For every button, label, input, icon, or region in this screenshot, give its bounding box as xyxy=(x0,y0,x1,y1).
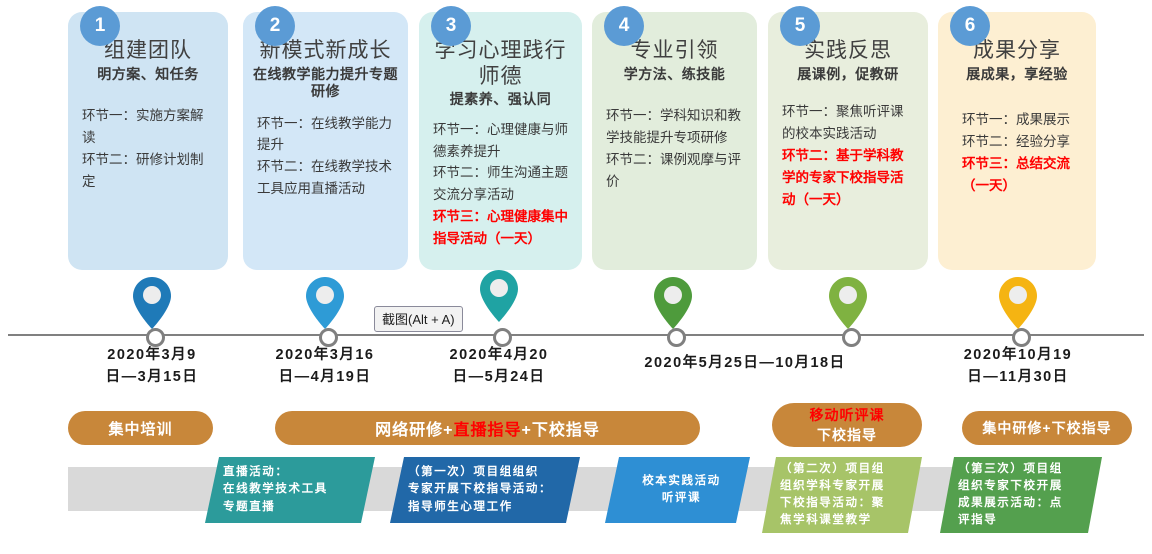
date-line: 日—4月19日 xyxy=(235,366,415,388)
stage-step: 环节一：心理健康与师德素养提升 xyxy=(433,119,568,163)
stage-number-badge-2: 2 xyxy=(255,6,295,46)
stage-subtitle-3: 提素养、强认同 xyxy=(429,91,572,109)
activity-box-3[interactable]: 校本实践活动 听评课 xyxy=(605,457,750,523)
stage-number-badge-3: 3 xyxy=(431,6,471,46)
map-pin-icon-1 xyxy=(130,275,174,331)
activity-box-2[interactable]: （第一次）项目组组织 专家开展下校指导活动： 指导师生心理工作 xyxy=(390,457,580,523)
timeline-node xyxy=(842,328,861,347)
stage-subtitle-4: 学方法、练技能 xyxy=(602,66,747,84)
date-line: 2020年3月9 xyxy=(62,344,242,366)
activity-line: 校本实践活动 xyxy=(642,473,721,490)
stage-card-row: 1 组建团队 明方案、知任务 环节一：实施方案解读 环节二：研修计划制定 2 新… xyxy=(0,0,1152,272)
roadmap-diagram: 1 组建团队 明方案、知任务 环节一：实施方案解读 环节二：研修计划制定 2 新… xyxy=(0,0,1152,554)
stage-card-6[interactable]: 6 成果分享 展成果，享经验 环节一：成果展示 环节二：经验分享 环节三：总结交… xyxy=(938,12,1096,270)
stage-card-5[interactable]: 5 实践反思 展课例，促教研 环节一：聚焦听评课的校本实践活动 环节二：基于学科… xyxy=(768,12,928,270)
stage-steps-4: 环节一：学科知识和教学技能提升专项研修 环节二：课例观摩与评价 xyxy=(602,105,747,192)
map-pin-icon-3 xyxy=(477,268,521,324)
activity-line: （第二次）项目组 xyxy=(780,461,885,478)
stage-step: 环节一：聚焦听评课的校本实践活动 xyxy=(782,101,914,145)
stage-card-4[interactable]: 4 专业引领 学方法、练技能 环节一：学科知识和教学技能提升专项研修 环节二：课… xyxy=(592,12,757,270)
stage-steps-3: 环节一：心理健康与师德素养提升 环节二：师生沟通主题交流分享活动 环节三：心理健… xyxy=(429,119,572,250)
activity-line: 评指导 xyxy=(958,512,1063,529)
map-pin-icon-2 xyxy=(303,275,347,331)
activity-line: 指导师生心理工作 xyxy=(408,499,552,516)
stage-card-2[interactable]: 2 新模式新成长 在线教学能力提升专题研修 环节一：在线教学能力提升 环节二：在… xyxy=(243,12,408,270)
stage-step-highlight: 环节三：总结交流（一天） xyxy=(962,153,1082,197)
activity-line: 成果展示活动：点 xyxy=(958,495,1063,512)
date-line: 2020年4月20 xyxy=(409,344,589,366)
stage-steps-6: 环节一：成果展示 环节二：经验分享 环节三：总结交流（一天） xyxy=(948,109,1086,196)
activity-box-text: 校本实践活动 听评课 xyxy=(642,473,721,508)
timeline-date-label-5: 2020年10月19 日—11月30日 xyxy=(928,344,1108,389)
phase-banner-1[interactable]: 集中培训 xyxy=(68,411,213,445)
timeline-date-label-4: 2020年5月25日—10月18日 xyxy=(600,352,890,374)
phase-banner-label: 集中培训 xyxy=(108,418,172,439)
stage-step: 环节二：在线教学技术工具应用直播活动 xyxy=(257,156,394,200)
stage-step: 环节二：研修计划制定 xyxy=(82,149,214,193)
activity-line: （第三次）项目组 xyxy=(958,461,1063,478)
timeline-date-label-1: 2020年3月9 日—3月15日 xyxy=(62,344,242,389)
stage-step: 环节一：实施方案解读 xyxy=(82,105,214,149)
map-pin-icon-4 xyxy=(651,275,695,331)
stage-subtitle-5: 展课例，促教研 xyxy=(778,66,918,84)
activity-line: 组织学科专家开展 xyxy=(780,478,885,495)
date-line: 2020年3月16 xyxy=(235,344,415,366)
phase-banner-label-highlight: 移动听评课 xyxy=(810,405,885,425)
timeline-axis xyxy=(8,334,1144,336)
stage-subtitle-6: 展成果，享经验 xyxy=(948,66,1086,84)
stage-number-badge-5: 5 xyxy=(780,6,820,46)
date-line: 2020年5月25日—10月18日 xyxy=(600,352,890,374)
stage-number-badge-6: 6 xyxy=(950,6,990,46)
stage-number-badge-1: 1 xyxy=(80,6,120,46)
timeline-date-label-2: 2020年3月16 日—4月19日 xyxy=(235,344,415,389)
activity-box-4[interactable]: （第二次）项目组 组织学科专家开展 下校指导活动：聚 焦学科课堂教学 xyxy=(762,457,922,533)
activity-line: 听评课 xyxy=(642,490,721,507)
date-line: 日—3月15日 xyxy=(62,366,242,388)
stage-step-highlight: 环节三：心理健康集中指导活动（一天） xyxy=(433,206,568,250)
stage-number-badge-4: 4 xyxy=(604,6,644,46)
activity-line: 焦学科课堂教学 xyxy=(780,512,885,529)
activity-box-text: （第三次）项目组 组织专家下校开展 成果展示活动：点 评指导 xyxy=(958,461,1063,530)
stage-step: 环节一：在线教学能力提升 xyxy=(257,113,394,157)
phase-banner-2[interactable]: 网络研修+直播指导+下校指导 xyxy=(275,411,700,445)
activity-box-text: （第一次）项目组组织 专家开展下校指导活动： 指导师生心理工作 xyxy=(408,464,552,516)
stage-steps-1: 环节一：实施方案解读 环节二：研修计划制定 xyxy=(78,105,218,192)
stage-step: 环节二：经验分享 xyxy=(962,131,1082,153)
timeline-date-label-3: 2020年4月20 日—5月24日 xyxy=(409,344,589,389)
phase-banner-3[interactable]: 移动听评课 下校指导 xyxy=(772,403,922,447)
phase-banner-label-part: 网络研修+ xyxy=(375,416,453,440)
stage-step: 环节二：师生沟通主题交流分享活动 xyxy=(433,162,568,206)
stage-card-1[interactable]: 1 组建团队 明方案、知任务 环节一：实施方案解读 环节二：研修计划制定 xyxy=(68,12,228,270)
stage-step: 环节二：课例观摩与评价 xyxy=(606,149,743,193)
activity-box-1[interactable]: 直播活动： 在线教学技术工具 专题直播 xyxy=(205,457,375,523)
phase-banner-4[interactable]: 集中研修+下校指导 xyxy=(962,411,1132,445)
phase-banner-label-highlight: 直播指导 xyxy=(453,416,521,440)
date-line: 日—5月24日 xyxy=(409,366,589,388)
stage-step-highlight: 环节二：基于学科教学的专家下校指导活动（一天） xyxy=(782,145,914,211)
map-pin-icon-5 xyxy=(826,275,870,331)
activity-line: 专家开展下校指导活动： xyxy=(408,481,552,498)
stage-subtitle-2: 在线教学能力提升专题研修 xyxy=(253,66,398,101)
map-pin-icon-6 xyxy=(996,275,1040,331)
phase-banner-label-part: 下校指导 xyxy=(817,425,877,445)
screenshot-tooltip[interactable]: 截图(Alt + A) xyxy=(374,306,463,332)
stage-subtitle-1: 明方案、知任务 xyxy=(78,66,218,84)
stage-card-3[interactable]: 3 学习心理践行师德 提素养、强认同 环节一：心理健康与师德素养提升 环节二：师… xyxy=(419,12,582,270)
date-line: 2020年10月19 xyxy=(928,344,1108,366)
stage-steps-2: 环节一：在线教学能力提升 环节二：在线教学技术工具应用直播活动 xyxy=(253,113,398,200)
activity-line: 下校指导活动：聚 xyxy=(780,495,885,512)
activity-box-5[interactable]: （第三次）项目组 组织专家下校开展 成果展示活动：点 评指导 xyxy=(940,457,1102,533)
phase-banner-label-part: +下校指导 xyxy=(522,416,600,440)
activity-line: 组织专家下校开展 xyxy=(958,478,1063,495)
date-line: 日—11月30日 xyxy=(928,366,1108,388)
phase-banner-label: 集中研修+下校指导 xyxy=(982,418,1111,438)
activity-line: 直播活动： xyxy=(223,464,328,481)
stage-step: 环节一：学科知识和教学技能提升专项研修 xyxy=(606,105,743,149)
activity-line: （第一次）项目组组织 xyxy=(408,464,552,481)
activity-box-text: 直播活动： 在线教学技术工具 专题直播 xyxy=(223,464,328,516)
activity-line: 在线教学技术工具 xyxy=(223,481,328,498)
timeline-node xyxy=(667,328,686,347)
stage-steps-5: 环节一：聚焦听评课的校本实践活动 环节二：基于学科教学的专家下校指导活动（一天） xyxy=(778,101,918,210)
stage-step: 环节一：成果展示 xyxy=(962,109,1082,131)
activity-line: 专题直播 xyxy=(223,499,328,516)
activity-box-text: （第二次）项目组 组织学科专家开展 下校指导活动：聚 焦学科课堂教学 xyxy=(780,461,885,530)
